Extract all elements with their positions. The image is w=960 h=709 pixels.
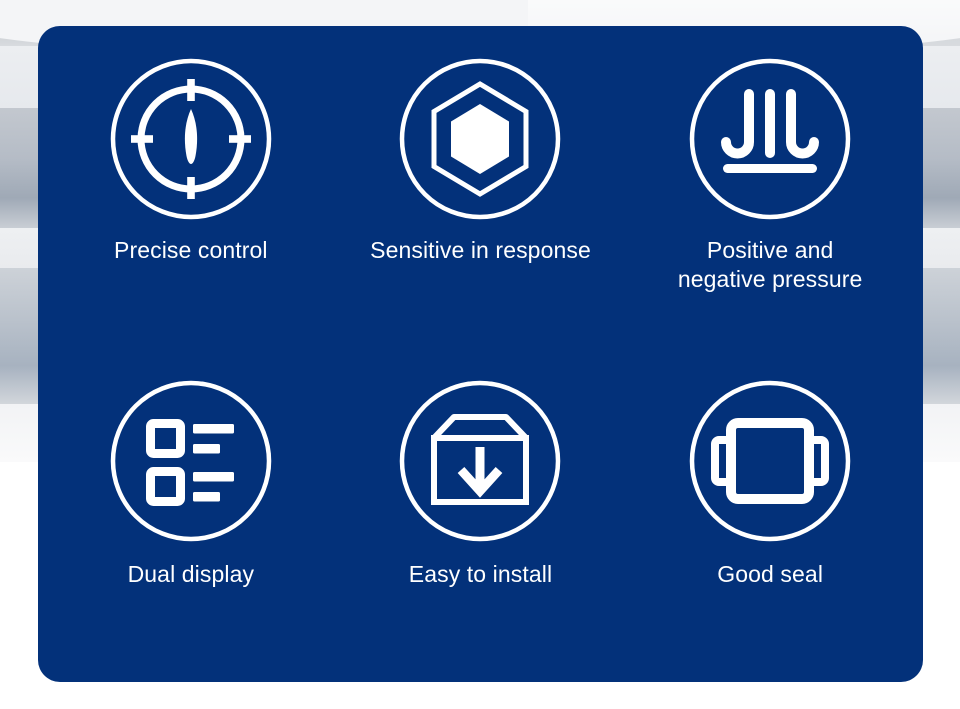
- hexagon-nested-icon: [397, 56, 563, 222]
- sealed-container-icon: [687, 378, 853, 544]
- feature-highlight-slide: Precise control Sensitive in response: [0, 0, 960, 709]
- feature-label: Sensitive in response: [370, 236, 591, 265]
- feature-grid: Precise control Sensitive in response: [38, 26, 923, 682]
- gauge-crosshair-icon: [108, 56, 274, 222]
- feature-item-dual-display[interactable]: Dual display: [46, 350, 336, 656]
- feature-label: Positive and negative pressure: [678, 236, 863, 294]
- feature-item-precise-control[interactable]: Precise control: [46, 44, 336, 350]
- positive-negative-pressure-icon: [687, 56, 853, 222]
- dual-display-list-icon: [108, 378, 274, 544]
- feature-item-positive-negative-pressure[interactable]: Positive and negative pressure: [625, 44, 915, 350]
- box-download-arrow-icon: [397, 378, 563, 544]
- feature-item-sensitive-in-response[interactable]: Sensitive in response: [336, 44, 626, 350]
- feature-label: Easy to install: [409, 560, 552, 589]
- feature-panel: Precise control Sensitive in response: [38, 26, 923, 682]
- feature-label: Dual display: [128, 560, 255, 589]
- feature-label: Precise control: [114, 236, 268, 265]
- feature-label: Good seal: [717, 560, 823, 589]
- feature-item-easy-to-install[interactable]: Easy to install: [336, 350, 626, 656]
- feature-item-good-seal[interactable]: Good seal: [625, 350, 915, 656]
